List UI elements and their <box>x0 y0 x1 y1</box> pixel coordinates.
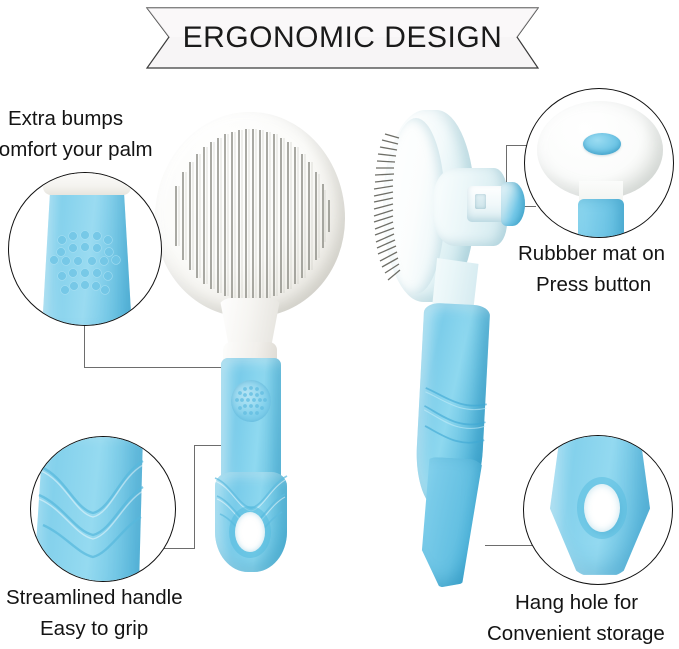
press-button-notch <box>475 194 486 209</box>
callout-label-extra-bumps: Extra bumps Comfort your palm <box>8 103 153 165</box>
hang-hole <box>235 512 265 552</box>
callout-label-streamlined-handle: Streamlined handle Easy to grip <box>6 582 183 644</box>
callout-line-2: Convenient storage <box>487 618 665 649</box>
callout-label-hang-hole: Hang hole for Convenient storage <box>487 587 665 649</box>
magnifier-content-hang-hole <box>524 436 672 584</box>
callout-line-2: Easy to grip <box>40 613 183 644</box>
magnifier-hang-hole <box>523 435 673 585</box>
zoom-hang-hole-opening <box>584 484 620 532</box>
callout-line-1: Rubbber mat on <box>518 238 665 269</box>
callout-line-1: Streamlined handle <box>6 582 183 613</box>
ergonomic-design-infographic: ERGONOMIC DESIGN Extra bumps Comfort you… <box>0 0 679 649</box>
connector-extra-bumps-vertical <box>84 320 85 368</box>
magnifier-content-press-button <box>525 89 673 237</box>
magnifier-content-thumb-pad <box>9 173 161 325</box>
callout-label-rubber-mat: Rubbber mat on Press button <box>518 238 665 300</box>
brush-pins-profile <box>373 132 399 284</box>
zoom-bump-dots-svg <box>9 173 161 325</box>
callout-line-2: Comfort your palm <box>0 134 153 165</box>
bump-dots-svg <box>231 380 271 422</box>
product-brush-side-view <box>375 108 540 578</box>
magnifier-extra-bumps <box>8 172 162 326</box>
callout-line-1: Hang hole for <box>515 587 665 618</box>
title-banner: ERGONOMIC DESIGN <box>145 6 540 70</box>
press-button-rubber-mat[interactable] <box>501 182 525 226</box>
magnifier-rubber-mat <box>524 88 674 238</box>
callout-line-1: Extra bumps <box>8 103 153 134</box>
product-brush-front-view <box>155 112 345 572</box>
page-title: ERGONOMIC DESIGN <box>145 6 540 70</box>
zoom-handle-blue-top <box>578 199 624 238</box>
magnifier-content-grip-grooves <box>31 437 175 581</box>
thumb-bump-pad <box>231 380 271 422</box>
zoom-grip-grooves-svg <box>31 437 175 581</box>
brush-pin-field <box>167 124 333 305</box>
magnifier-streamlined-handle <box>30 436 176 582</box>
callout-line-2: Press button <box>536 269 665 300</box>
bent-pins-svg <box>373 132 403 288</box>
brush-pins-svg <box>167 124 333 305</box>
zoom-press-button-ellipse[interactable] <box>583 133 621 155</box>
